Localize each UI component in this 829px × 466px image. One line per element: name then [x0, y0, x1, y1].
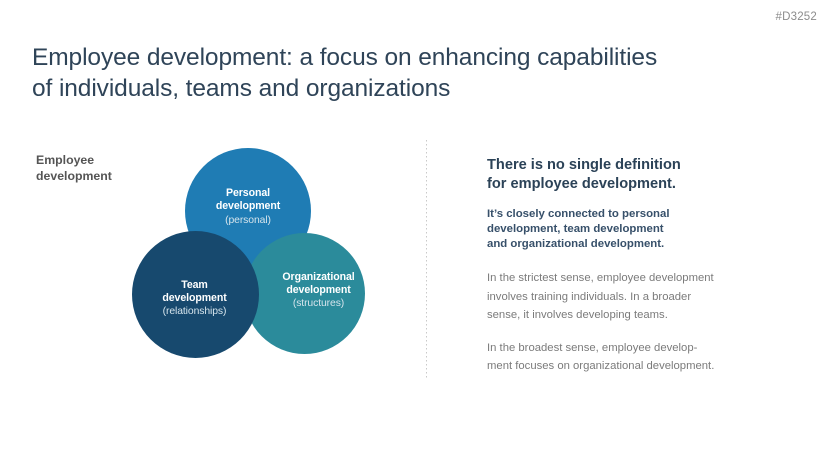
venn-circle-personal-title-line-2: development [216, 200, 280, 213]
panel-paragraph-1-line-2: involves training individuals. In a broa… [487, 288, 757, 307]
venn-circle-personal-label: Personal development (personal) [216, 187, 280, 227]
page-title-line-1: Employee development: a focus on enhanci… [32, 42, 732, 73]
panel-heading-line-1: There is no single definition [487, 156, 757, 175]
panel-subheading-line-2: development, team development [487, 222, 757, 237]
venn-diagram: Employee development Personal developmen… [0, 140, 420, 385]
panel-paragraph-1-line-3: sense, it involves developing teams. [487, 306, 757, 325]
text-panel: There is no single definition for employ… [487, 156, 757, 376]
panel-heading: There is no single definition for employ… [487, 156, 757, 194]
page-title-line-2: of individuals, teams and organizations [32, 73, 732, 104]
panel-heading-line-2: for employee development. [487, 175, 757, 194]
panel-paragraph-2-line-1: In the broadest sense, employee develop- [487, 339, 757, 358]
venn-circle-organizational-title-line-1: Organizational [282, 271, 354, 284]
venn-circle-team-development[interactable]: Team development (relationships) [132, 231, 259, 358]
panel-paragraph-1: In the strictest sense, employee develop… [487, 269, 757, 325]
page-title: Employee development: a focus on enhanci… [32, 42, 732, 104]
vertical-dotted-divider [426, 140, 427, 380]
venn-circle-team-subtitle: (relationships) [162, 305, 226, 318]
panel-paragraph-2-line-2: ment focuses on organizational developme… [487, 357, 757, 376]
slide-id-label: #D3252 [776, 11, 817, 23]
venn-circle-organizational-development[interactable]: Organizational development (structures) [244, 233, 365, 354]
venn-circle-organizational-label: Organizational development (structures) [282, 271, 354, 311]
panel-subheading-line-1: It’s closely connected to personal [487, 207, 757, 222]
venn-circle-personal-subtitle: (personal) [216, 214, 280, 227]
venn-circle-organizational-title-line-2: development [282, 284, 354, 297]
panel-paragraph-2: In the broadest sense, employee develop-… [487, 339, 757, 376]
venn-circle-personal-title-line-1: Personal [216, 187, 280, 200]
panel-subheading-line-3: and organizational development. [487, 237, 757, 252]
venn-circles-group: Personal development (personal) Organiza… [0, 140, 420, 385]
panel-subheading: It’s closely connected to personal devel… [487, 207, 757, 252]
venn-circle-organizational-subtitle: (structures) [282, 297, 354, 310]
venn-circle-team-label: Team development (relationships) [162, 279, 226, 319]
venn-circle-team-title-line-1: Team [162, 279, 226, 292]
panel-paragraph-1-line-1: In the strictest sense, employee develop… [487, 269, 757, 288]
venn-circle-team-title-line-2: development [162, 292, 226, 305]
